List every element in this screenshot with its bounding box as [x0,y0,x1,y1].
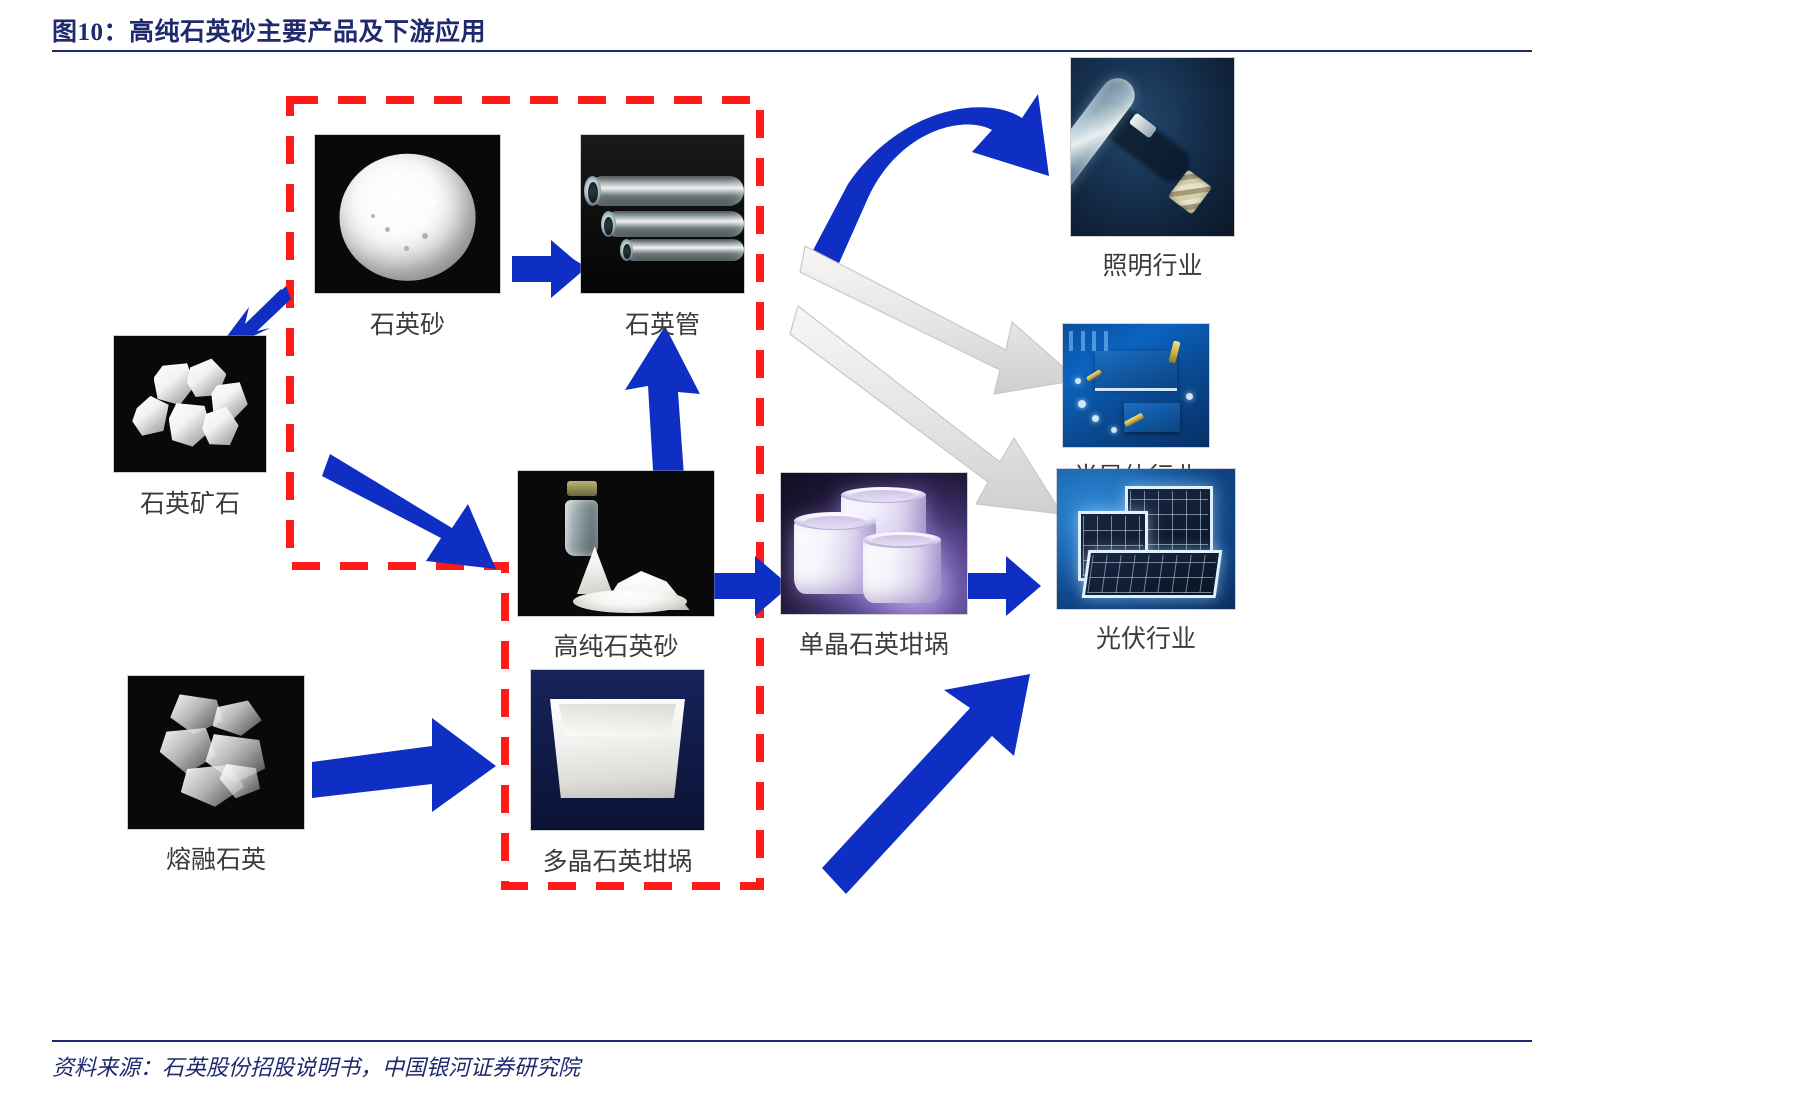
quartz-ore-photo [114,336,266,472]
source-divider [52,1040,1532,1042]
page-title: 图10：高纯石英砂主要产品及下游应用 [52,12,486,48]
node-label-mono-crucible: 单晶石英坩埚 [799,625,949,661]
solar-panels-photo [1057,469,1235,609]
node-quartz-ore[interactable]: 石英矿石 [114,336,266,472]
arrow-poly-to-pv [822,674,1030,894]
node-quartz-sand[interactable]: 石英砂 [315,135,500,293]
arrow-tube-to-lighting [810,94,1049,270]
quartz-sand-photo [315,135,500,293]
node-label-lighting: 照明行业 [1102,246,1202,282]
node-photovoltaic[interactable]: 光伏行业 [1057,469,1235,609]
monocrystalline-quartz-crucible-photo [781,473,967,614]
node-high-purity-sand[interactable]: 高纯石英砂 [518,471,714,616]
arrow-ore-to-hpsand [322,454,496,569]
source-note: 资料来源：石英股份招股说明书，中国银河证券研究院 [52,1050,580,1082]
printed-circuit-board-photo [1063,324,1209,447]
node-poly-crucible[interactable]: 多晶石英坩埚 [531,670,704,830]
node-lighting[interactable]: 照明行业 [1071,58,1234,236]
node-label-poly-crucible: 多晶石英坩埚 [542,842,692,878]
node-label-quartz-sand: 石英砂 [370,305,445,341]
node-label-quartz-ore: 石英矿石 [140,484,240,520]
arrow-hpsand-to-mono [714,556,790,616]
title-divider [52,50,1532,52]
node-label-fused-quartz: 熔融石英 [166,840,266,876]
polycrystalline-quartz-crucible-photo [531,670,704,830]
arrow-sand-to-tube-body [512,240,585,298]
quartz-tube-photo [581,135,744,293]
arrow-fused-to-poly [312,718,496,812]
diagram-canvas: 石英矿石 石英砂 [0,56,1816,1036]
node-semiconductor[interactable]: 半导体行业 [1063,324,1209,447]
high-purity-quartz-sand-photo [518,471,714,616]
node-quartz-tube[interactable]: 石英管 [581,135,744,293]
arrow-mono-to-pv [968,556,1041,616]
fused-quartz-photo [128,676,304,829]
node-fused-quartz[interactable]: 熔融石英 [128,676,304,829]
node-mono-crucible[interactable]: 单晶石英坩埚 [781,473,967,614]
metal-halide-lamp-photo [1071,58,1234,236]
node-label-high-purity-sand: 高纯石英砂 [553,627,678,663]
node-label-photovoltaic: 光伏行业 [1096,619,1196,655]
node-label-quartz-tube: 石英管 [625,305,700,341]
